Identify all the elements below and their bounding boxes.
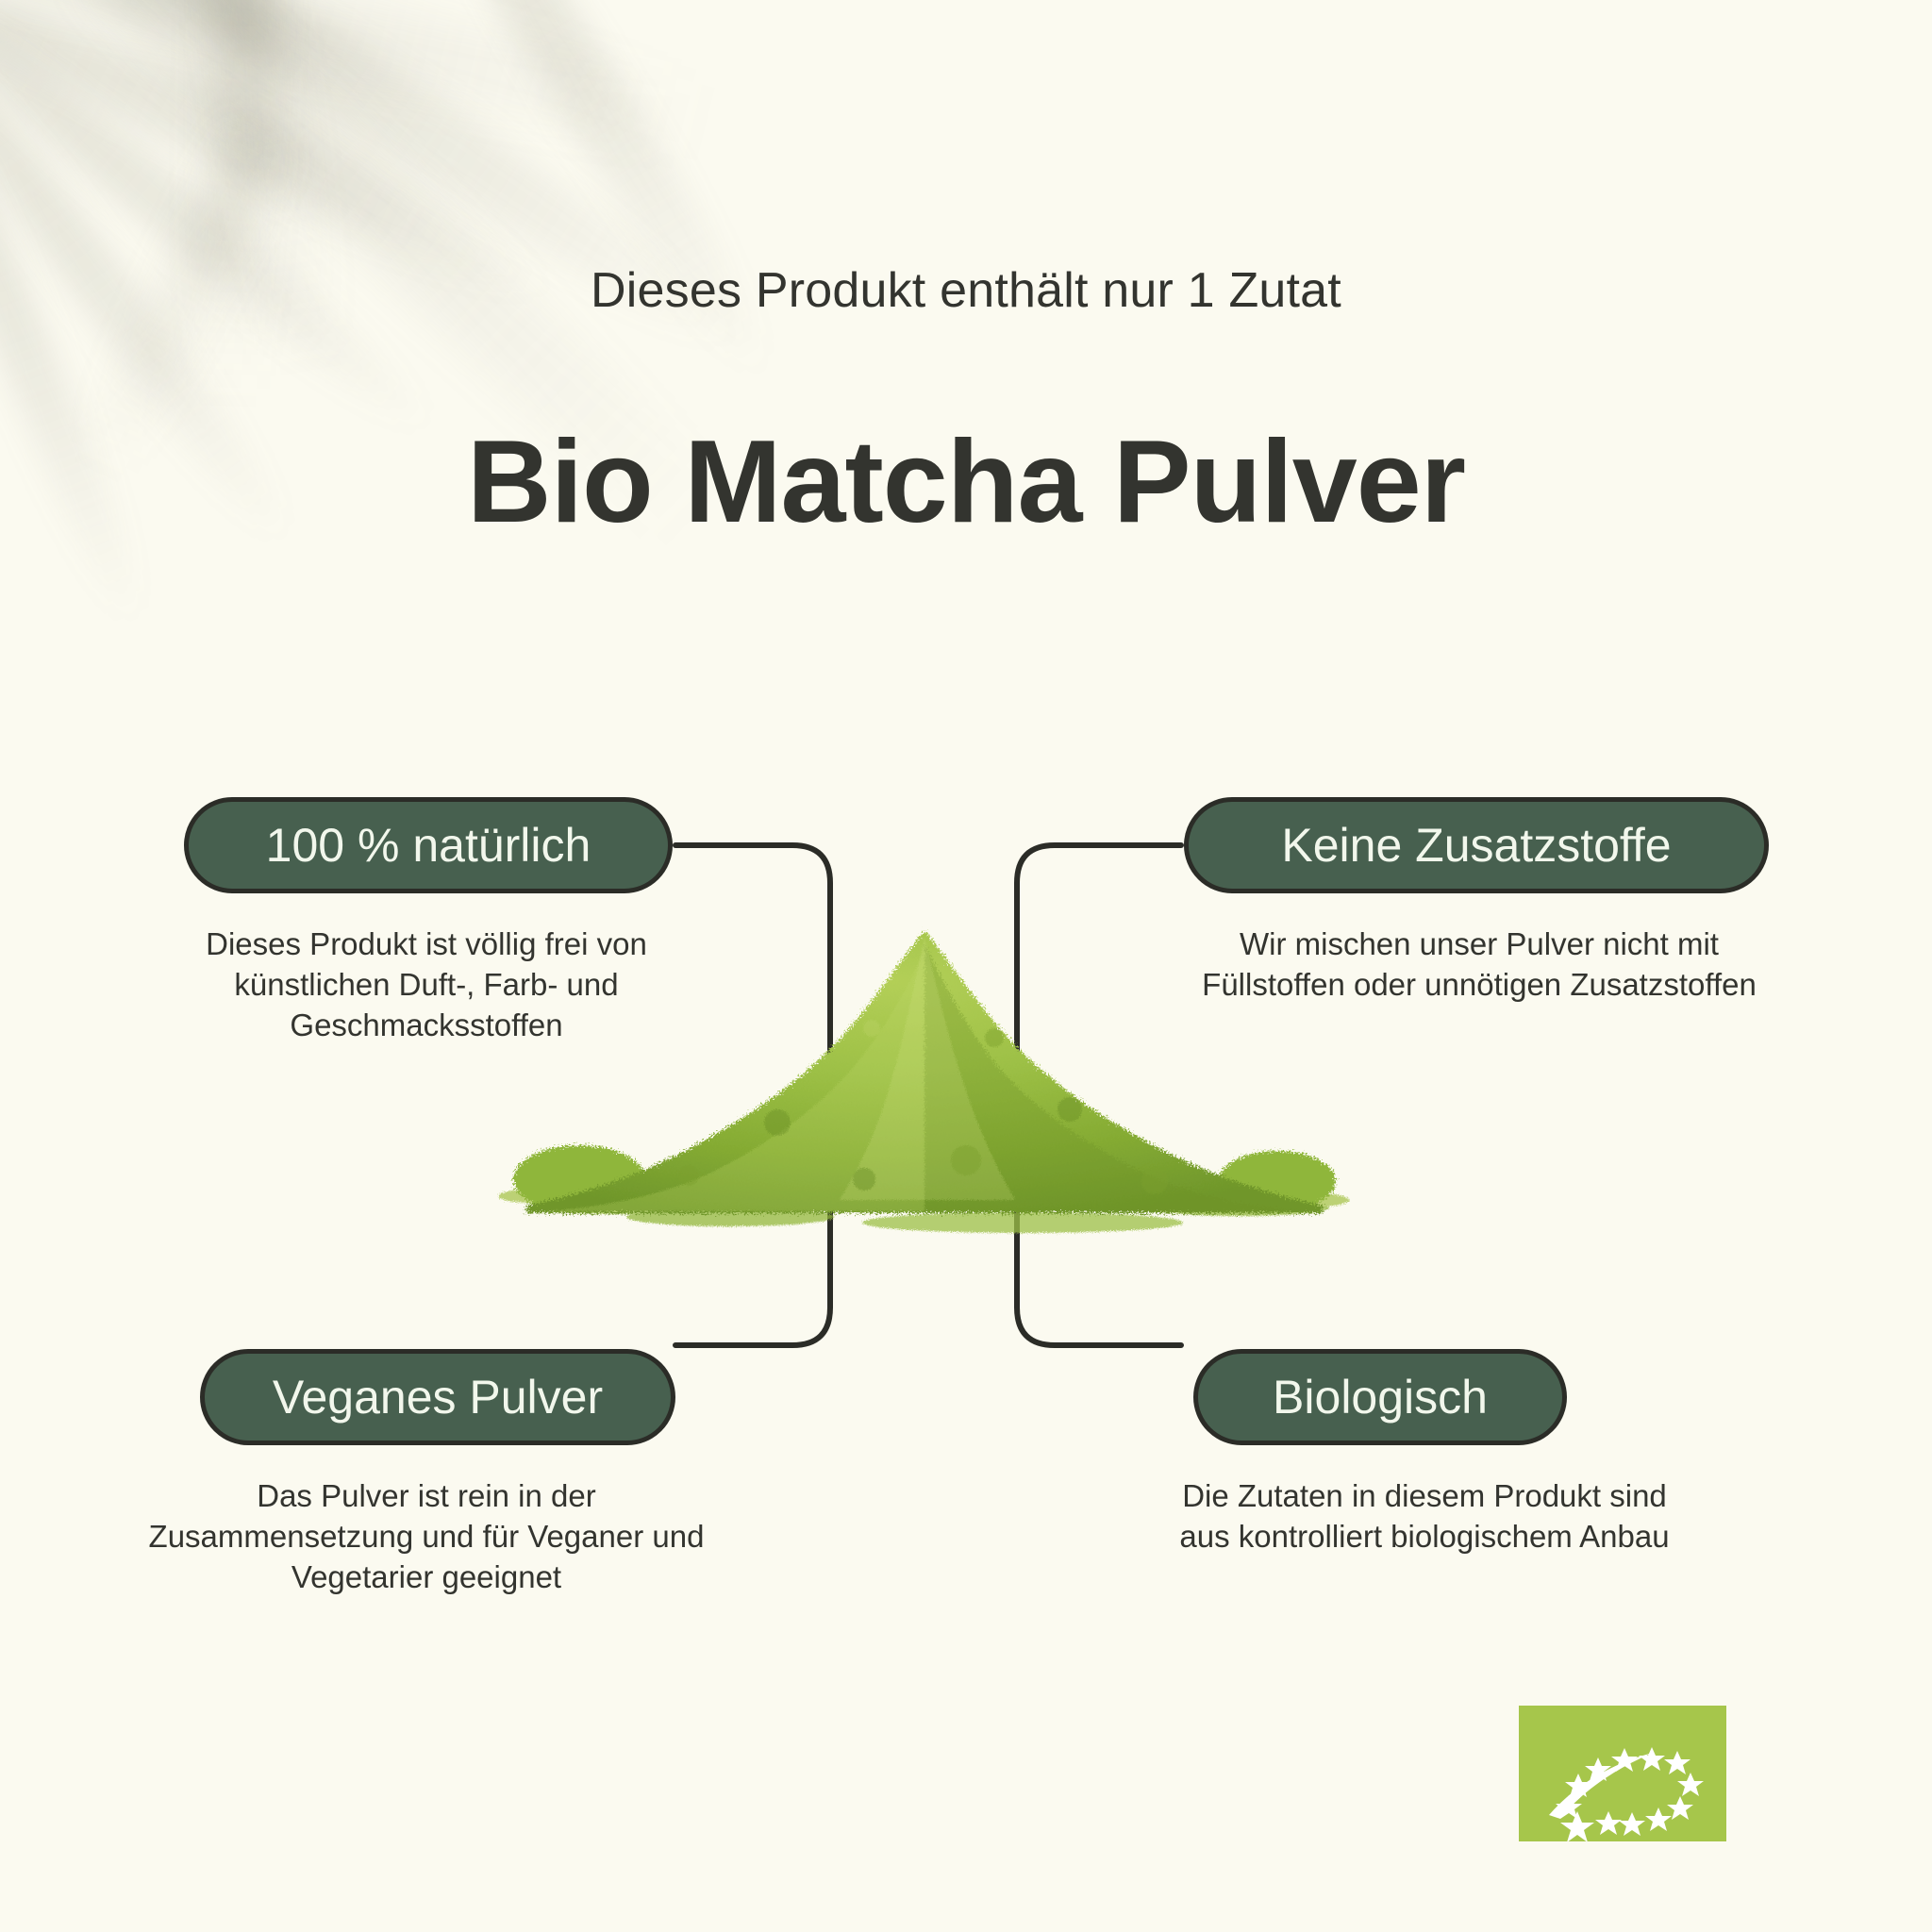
feature-pill-additives[interactable]: Keine Zusatzstoffe xyxy=(1184,797,1769,893)
infographic-canvas: Dieses Produkt enthält nur 1 Zutat Bio M… xyxy=(0,0,1932,1932)
feature-description-vegan: Das Pulver ist rein in der Zusammensetzu… xyxy=(143,1476,709,1598)
feature-pill-natural[interactable]: 100 % natürlich xyxy=(184,797,673,893)
feature-pill-natural-label: 100 % natürlich xyxy=(266,818,591,873)
feature-pill-organic[interactable]: Biologisch xyxy=(1193,1349,1567,1445)
eu-organic-leaf-logo-icon xyxy=(1519,1706,1726,1841)
feature-pill-additives-label: Keine Zusatzstoffe xyxy=(1281,818,1671,873)
feature-description-natural: Dieses Produkt ist völlig frei von künst… xyxy=(143,924,709,1046)
connector-natural xyxy=(675,845,830,1345)
feature-pill-vegan-label: Veganes Pulver xyxy=(273,1370,603,1424)
feature-pill-organic-label: Biologisch xyxy=(1273,1370,1488,1424)
feature-description-organic: Die Zutaten in diesem Produkt sind aus k… xyxy=(1160,1476,1689,1557)
feature-pill-vegan[interactable]: Veganes Pulver xyxy=(200,1349,675,1445)
page-title: Bio Matcha Pulver xyxy=(0,415,1932,549)
connector-additives xyxy=(1017,845,1181,1345)
feature-description-additives: Wir mischen unser Pulver nicht mit Fülls… xyxy=(1177,924,1781,1006)
page-subtitle: Dieses Produkt enthält nur 1 Zutat xyxy=(0,262,1932,319)
